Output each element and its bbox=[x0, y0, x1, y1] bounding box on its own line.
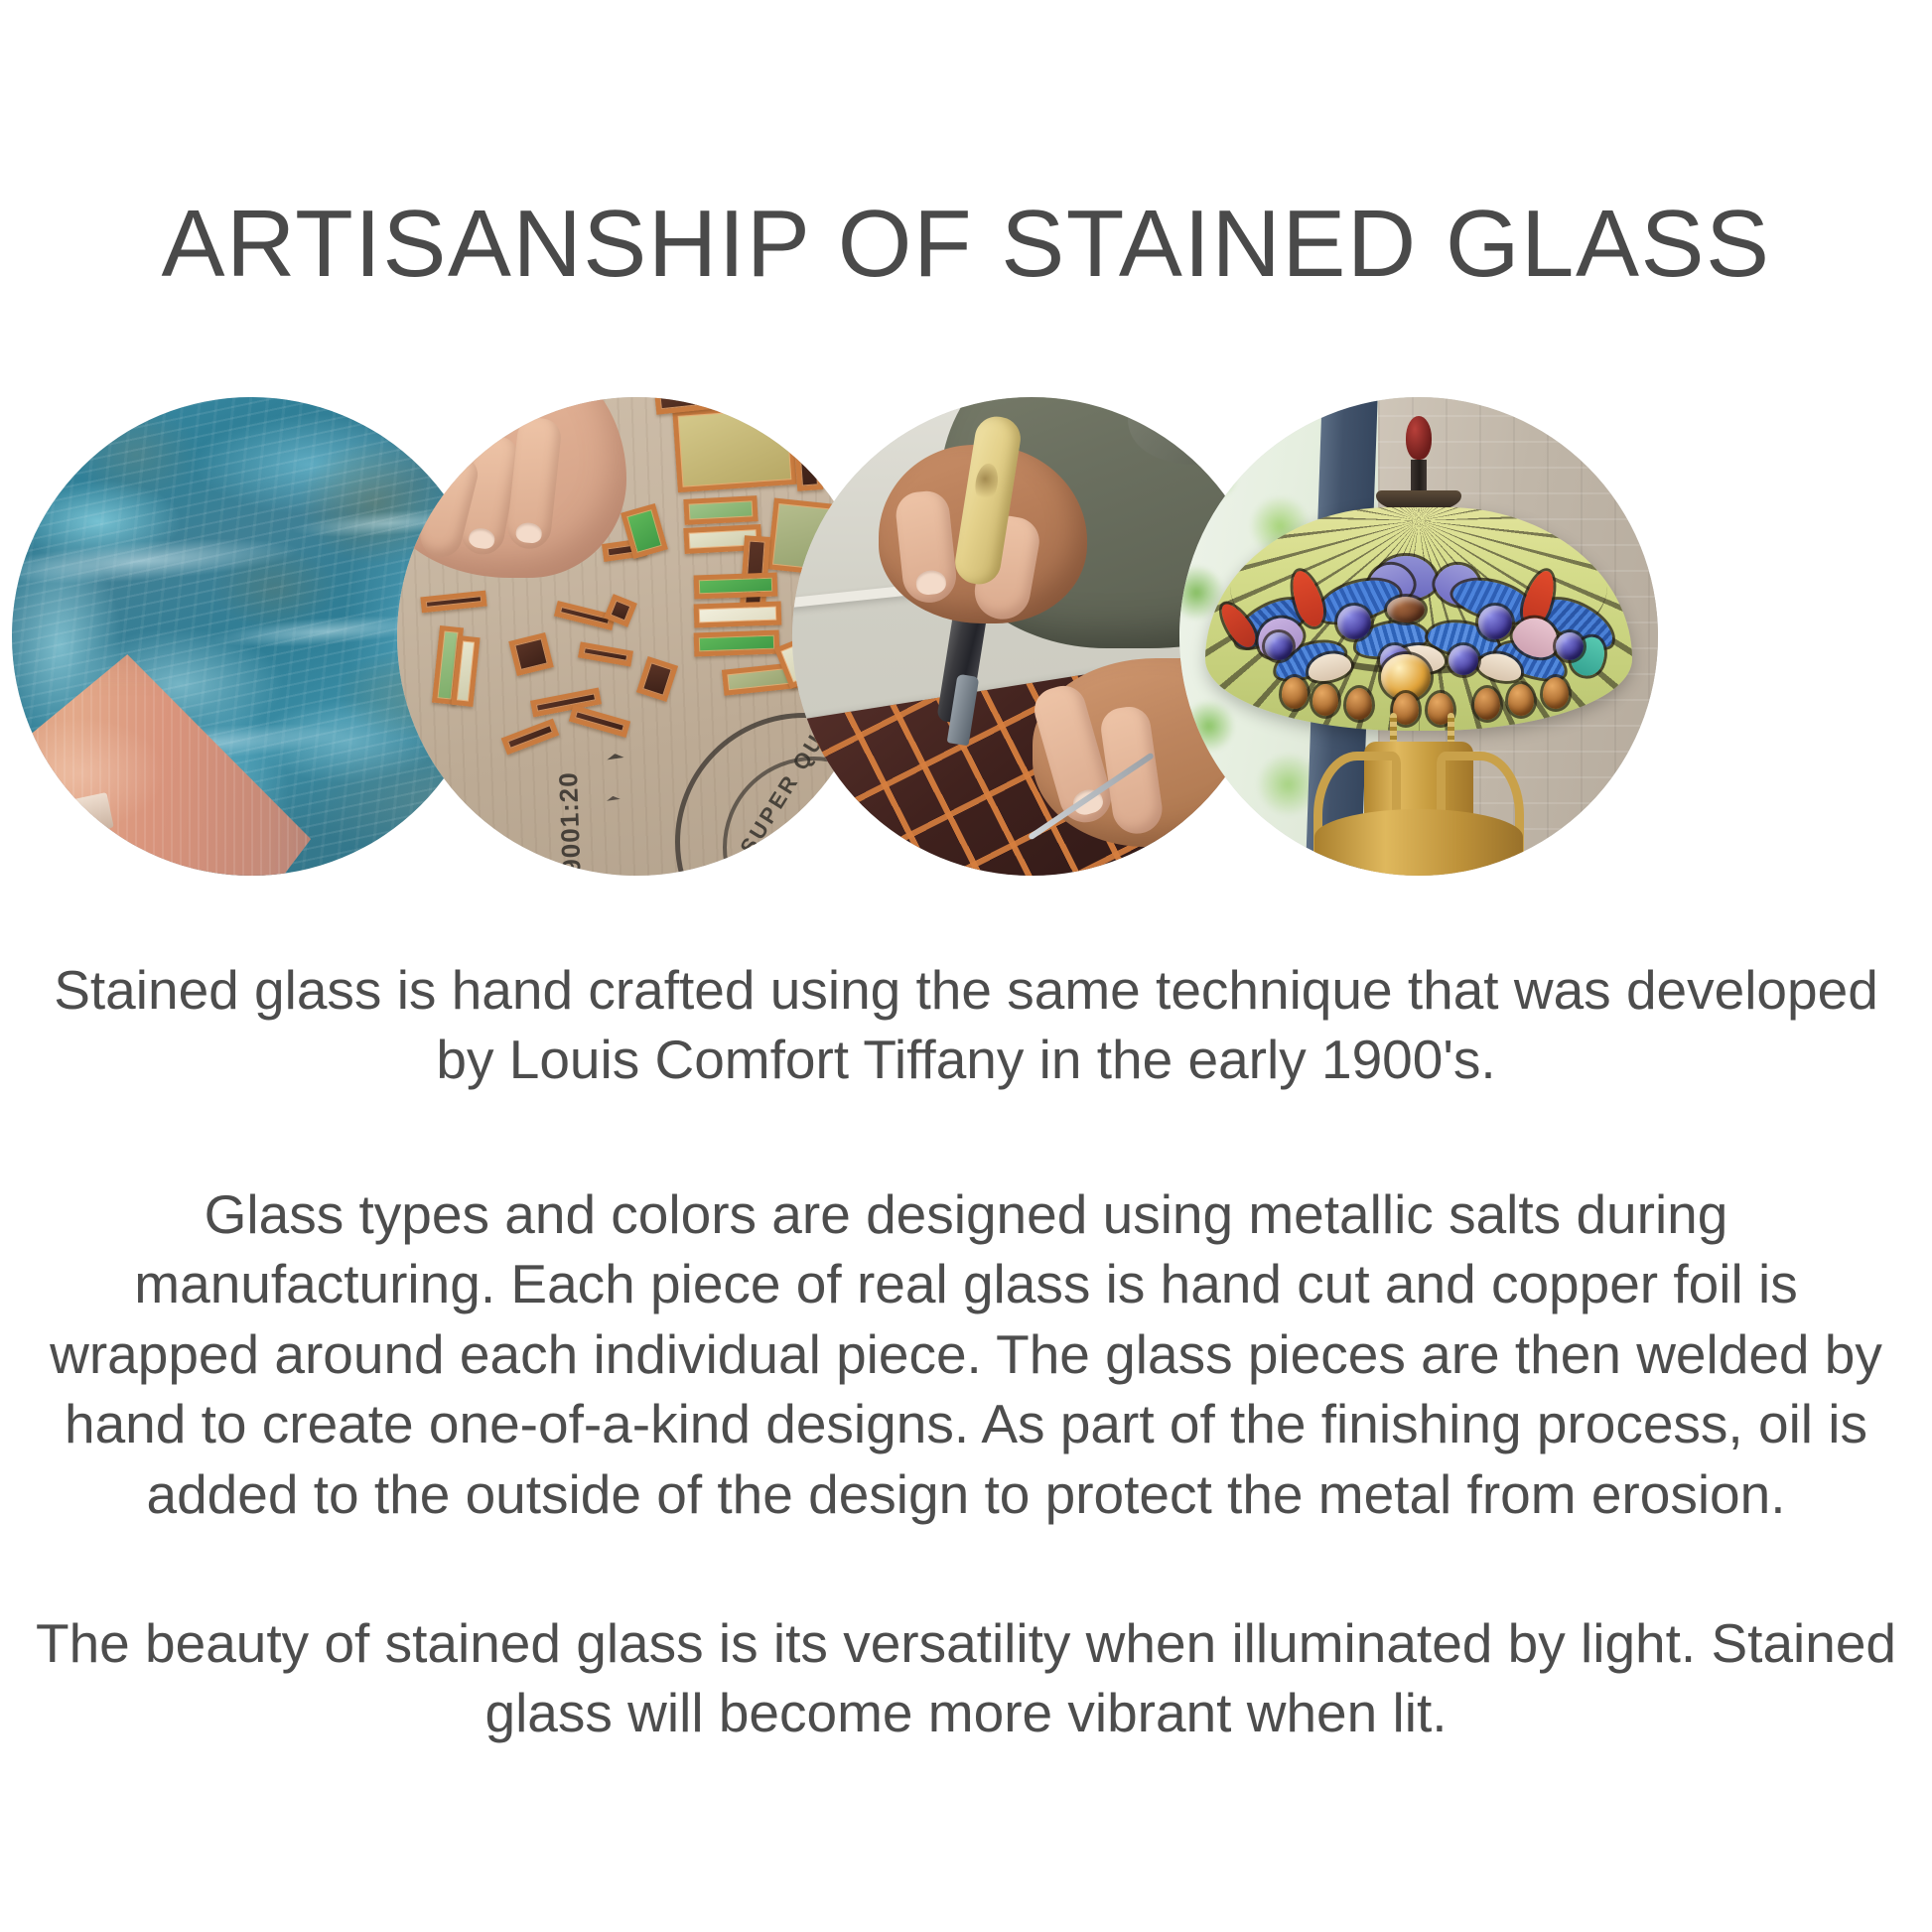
glass-piece bbox=[693, 630, 779, 657]
shade-drop-jewel bbox=[1543, 677, 1569, 709]
glass-piece bbox=[693, 602, 781, 628]
shade-drop-jewel bbox=[1312, 684, 1338, 716]
infographic-page: ARTISANSHIP OF STAINED GLASS ISO 9001:20… bbox=[0, 0, 1932, 1932]
page-title: ARTISANSHIP OF STAINED GLASS bbox=[0, 195, 1932, 295]
board-stamp-iso-text: ISO 9001:20 bbox=[553, 771, 590, 876]
ring-icon bbox=[418, 450, 458, 483]
shade-jewel bbox=[1337, 606, 1371, 639]
shade-jewel bbox=[1478, 606, 1512, 639]
glass-piece bbox=[672, 403, 796, 492]
image-gallery: ISO 9001:20 TY · SUPER QU CH bbox=[0, 397, 1932, 876]
finger bbox=[505, 416, 563, 551]
gallery-image-tiffany-style-lamp bbox=[1179, 397, 1658, 876]
shade-drop-jewel bbox=[1346, 688, 1372, 720]
shade-drop-jewel bbox=[1474, 688, 1500, 720]
lamp-foot bbox=[1314, 809, 1523, 876]
shade-drop-jewel bbox=[1282, 677, 1308, 709]
finger bbox=[894, 488, 958, 605]
shade-jewel bbox=[1265, 632, 1293, 660]
artisan-hand bbox=[397, 397, 626, 578]
fingernail bbox=[515, 521, 543, 544]
shade-drop-jewel bbox=[1393, 693, 1419, 725]
shade-center-jewel bbox=[1387, 597, 1425, 622]
lamp-shade bbox=[1205, 507, 1632, 731]
paragraph-intro: Stained glass is hand crafted using the … bbox=[26, 955, 1906, 1095]
paragraph-process: Glass types and colors are designed usin… bbox=[26, 1179, 1906, 1529]
lamp-finial bbox=[1406, 416, 1432, 460]
lamp-neck bbox=[1411, 460, 1427, 493]
shade-jewel bbox=[1556, 632, 1584, 660]
fingernail bbox=[468, 526, 496, 550]
glass-piece bbox=[693, 573, 777, 600]
glass-piece bbox=[684, 495, 759, 525]
paragraph-beauty: The beauty of stained glass is its versa… bbox=[26, 1608, 1906, 1748]
fingernail bbox=[914, 569, 946, 596]
